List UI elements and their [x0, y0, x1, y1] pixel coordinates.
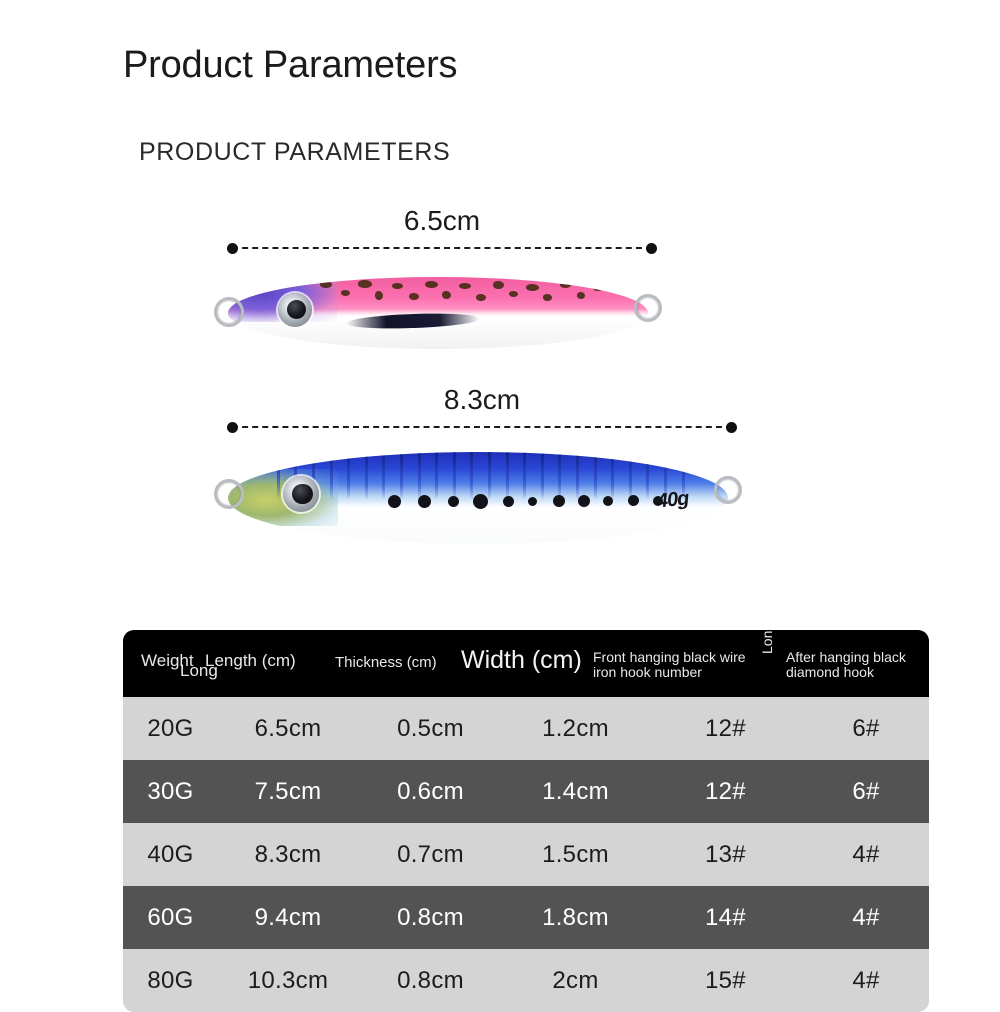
cell-weight: 80G [123, 967, 218, 995]
lure-eye-pink [278, 293, 312, 327]
measurement-dashed-line [232, 247, 652, 251]
cell-front-hook: 13# [648, 841, 803, 869]
cell-weight: 60G [123, 904, 218, 932]
table-row: 30G 7.5cm 0.6cm 1.4cm 12# 6# [123, 760, 929, 823]
cell-weight: 40G [123, 841, 218, 869]
cell-after-hook: 4# [803, 904, 929, 932]
product-image-blue-sardine-jig: 40g [228, 452, 728, 544]
cell-length: 10.3cm [218, 967, 358, 995]
lure-body-blue: 40g [228, 452, 728, 544]
cell-after-hook: 4# [803, 967, 929, 995]
measurement-dashed-line [232, 426, 732, 430]
table-row: 20G 6.5cm 0.5cm 1.2cm 12# 6# [123, 697, 929, 760]
cell-thickness: 0.7cm [358, 841, 503, 869]
column-header-width: Width (cm) [461, 647, 582, 674]
product-image-pink-sardine-jig [228, 277, 648, 349]
split-ring-rear-blue [714, 476, 742, 504]
cell-width: 1.2cm [503, 715, 648, 743]
lure-eye-blue [283, 476, 319, 512]
cell-front-hook: 14# [648, 904, 803, 932]
cell-length: 9.4cm [218, 904, 358, 932]
measurement-label-1: 6.5cm [232, 205, 652, 237]
column-header-front-hook: Front hanging black wire iron hook numbe… [593, 650, 746, 680]
cell-after-hook: 6# [803, 715, 929, 743]
cell-length: 6.5cm [218, 715, 358, 743]
measurement-endpoint-dot-left [227, 422, 238, 433]
cell-width: 1.8cm [503, 904, 648, 932]
split-ring-front-blue [214, 479, 244, 509]
cell-width: 1.5cm [503, 841, 648, 869]
cell-width: 1.4cm [503, 778, 648, 806]
measurement-label-2: 8.3cm [232, 384, 732, 416]
split-ring-rear-pink [634, 294, 662, 322]
cell-front-hook: 12# [648, 778, 803, 806]
specification-table: Weight Long Length (cm) Thickness (cm) W… [123, 630, 929, 1012]
lure-body-pink [228, 277, 648, 349]
cell-length: 8.3cm [218, 841, 358, 869]
cell-thickness: 0.6cm [358, 778, 503, 806]
lure-pupil-blue [292, 484, 312, 504]
cell-thickness: 0.5cm [358, 715, 503, 743]
cell-after-hook: 6# [803, 778, 929, 806]
table-row: 80G 10.3cm 0.8cm 2cm 15# 4# [123, 949, 929, 1012]
cell-front-hook: 15# [648, 967, 803, 995]
cell-thickness: 0.8cm [358, 904, 503, 932]
table-row: 60G 9.4cm 0.8cm 1.8cm 14# 4# [123, 886, 929, 949]
cell-front-hook: 12# [648, 715, 803, 743]
cell-weight: 20G [123, 715, 218, 743]
cell-width: 2cm [503, 967, 648, 995]
split-ring-front-pink [214, 297, 244, 327]
lure-pupil-pink [287, 300, 306, 319]
column-header-after-hook: After hanging black diamond hook [786, 650, 906, 680]
column-header-thickness: Thickness (cm) [335, 655, 437, 671]
column-header-length: Length (cm) [205, 652, 296, 670]
lure-weight-marking: 40g [655, 487, 689, 513]
table-row: 40G 8.3cm 0.7cm 1.5cm 13# 4# [123, 823, 929, 886]
table-header-row: Weight Long Length (cm) Thickness (cm) W… [123, 630, 929, 697]
cell-after-hook: 4# [803, 841, 929, 869]
cell-length: 7.5cm [218, 778, 358, 806]
page-title: Product Parameters [123, 44, 463, 87]
cell-weight: 30G [123, 778, 218, 806]
measurement-endpoint-dot-right [646, 243, 657, 254]
measurement-endpoint-dot-left [227, 243, 238, 254]
measurement-endpoint-dot-right [726, 422, 737, 433]
page-subtitle: PRODUCT PARAMETERS [139, 138, 450, 167]
column-header-long-rotated: Long [760, 630, 775, 654]
cell-thickness: 0.8cm [358, 967, 503, 995]
